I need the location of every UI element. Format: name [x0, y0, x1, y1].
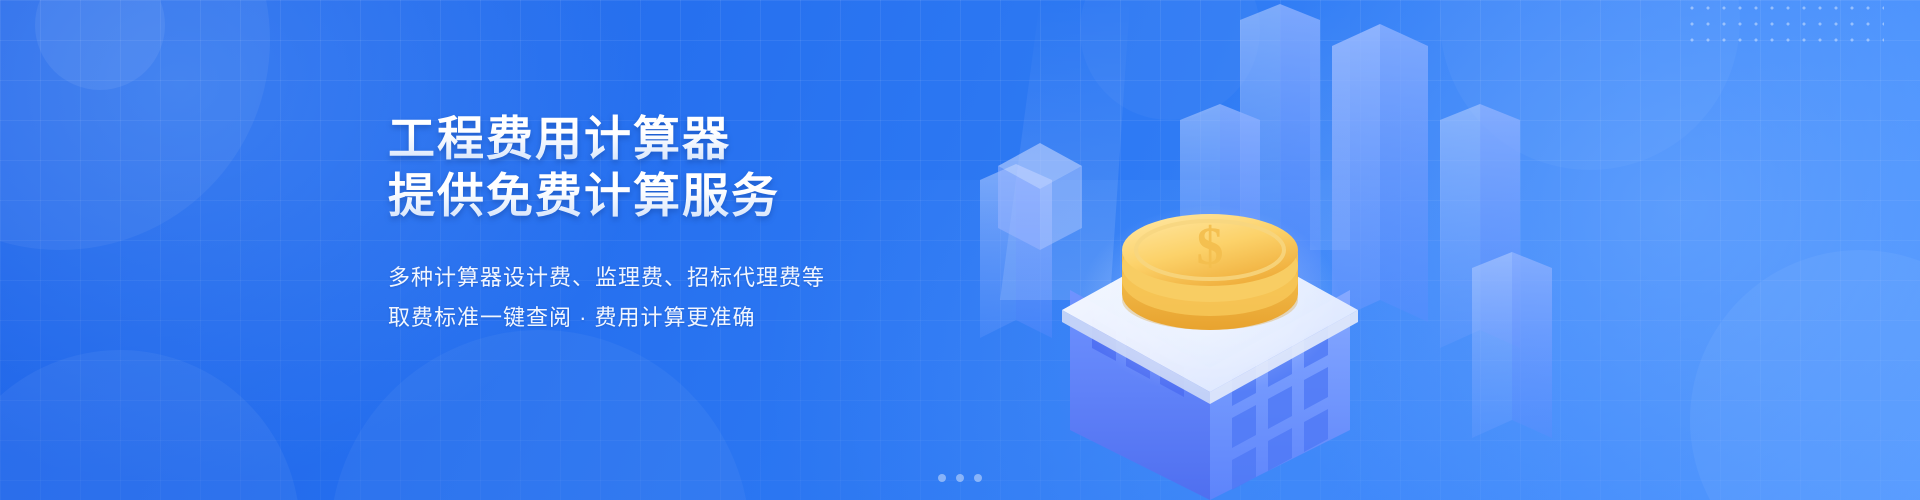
light-beam — [1310, 0, 1350, 250]
carousel-pagination[interactable] — [0, 474, 1920, 482]
coin-dollar-symbol: $ — [1197, 216, 1224, 276]
subtitle-line-1: 多种计算器设计费、监理费、招标代理费等 — [388, 258, 948, 298]
subtitle-line-2: 取费标准一键查阅 · 费用计算更准确 — [388, 298, 948, 338]
carousel-dot[interactable] — [938, 474, 946, 482]
carousel-dot[interactable] — [974, 474, 982, 482]
headline-line-1: 工程费用计算器 — [388, 110, 948, 167]
carousel-dot[interactable] — [956, 474, 964, 482]
gold-coin: $ — [1122, 214, 1298, 330]
hero-copy: 工程费用计算器 提供免费计算服务 多种计算器设计费、监理费、招标代理费等 取费标… — [388, 110, 948, 338]
headline-line-2: 提供免费计算服务 — [388, 167, 948, 224]
hero-banner: $ 工程计费 工程费用计算器 提供免费计算服务 多种计算器设计费、监理费、招标代… — [0, 0, 1920, 500]
isometric-illustration: $ 工程计费 — [880, 0, 1920, 500]
